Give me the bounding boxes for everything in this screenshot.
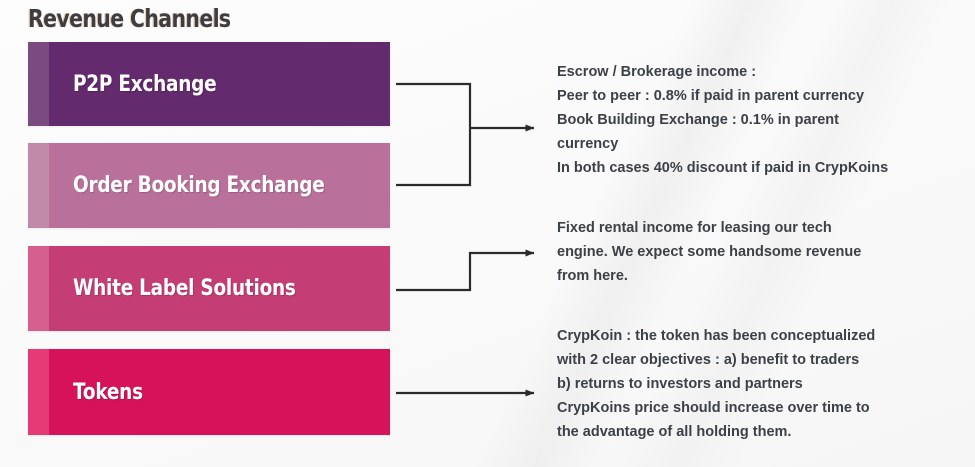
description-line: CrypKoin : the token has been conceptual… — [557, 324, 961, 348]
connector-step-white-label — [396, 253, 534, 290]
description-block-escrow-brokerage: Escrow / Brokerage income :Peer to peer … — [557, 60, 961, 180]
channel-bar-accent-strip — [28, 246, 49, 331]
description-line: currency — [557, 132, 961, 156]
description-line: CrypKoins price should increase over tim… — [557, 396, 961, 420]
description-line: In both cases 40% discount if paid in Cr… — [557, 156, 961, 180]
description-block-fixed-rental: Fixed rental income for leasing our tech… — [557, 216, 961, 288]
description-block-crypkoin-token: CrypKoin : the token has been conceptual… — [557, 324, 961, 444]
description-line: Book Building Exchange : 0.1% in parent — [557, 108, 961, 132]
channel-bar-accent-strip — [28, 143, 49, 228]
connector-bracket-p2p-orderbooking — [396, 84, 534, 185]
channel-bar-accent-strip — [28, 349, 49, 435]
description-line: from here. — [557, 264, 961, 288]
revenue-channel-bar[interactable]: White Label Solutions — [28, 246, 390, 331]
description-line: Peer to peer : 0.8% if paid in parent cu… — [557, 84, 961, 108]
description-line: Escrow / Brokerage income : — [557, 60, 961, 84]
page-title: Revenue Channels — [28, 4, 230, 33]
description-line: b) returns to investors and partners — [557, 372, 961, 396]
description-line: Fixed rental income for leasing our tech — [557, 216, 961, 240]
channel-bar-accent-strip — [28, 42, 49, 126]
description-line: engine. We expect some handsome revenue — [557, 240, 961, 264]
description-line: the advantage of all holding them. — [557, 420, 961, 444]
channel-bar-label: Tokens — [73, 380, 143, 405]
revenue-channel-bar[interactable]: Order Booking Exchange — [28, 143, 390, 228]
description-line: with 2 clear objectives : a) benefit to … — [557, 348, 961, 372]
revenue-channel-bar[interactable]: P2P Exchange — [28, 42, 390, 126]
channel-bar-label: White Label Solutions — [73, 276, 296, 301]
revenue-channel-bar[interactable]: Tokens — [28, 349, 390, 435]
channel-bar-label: Order Booking Exchange — [73, 173, 325, 198]
channel-bar-label: P2P Exchange — [73, 72, 216, 97]
slide-canvas: Revenue Channels P2P ExchangeOrder Booki… — [0, 0, 975, 467]
